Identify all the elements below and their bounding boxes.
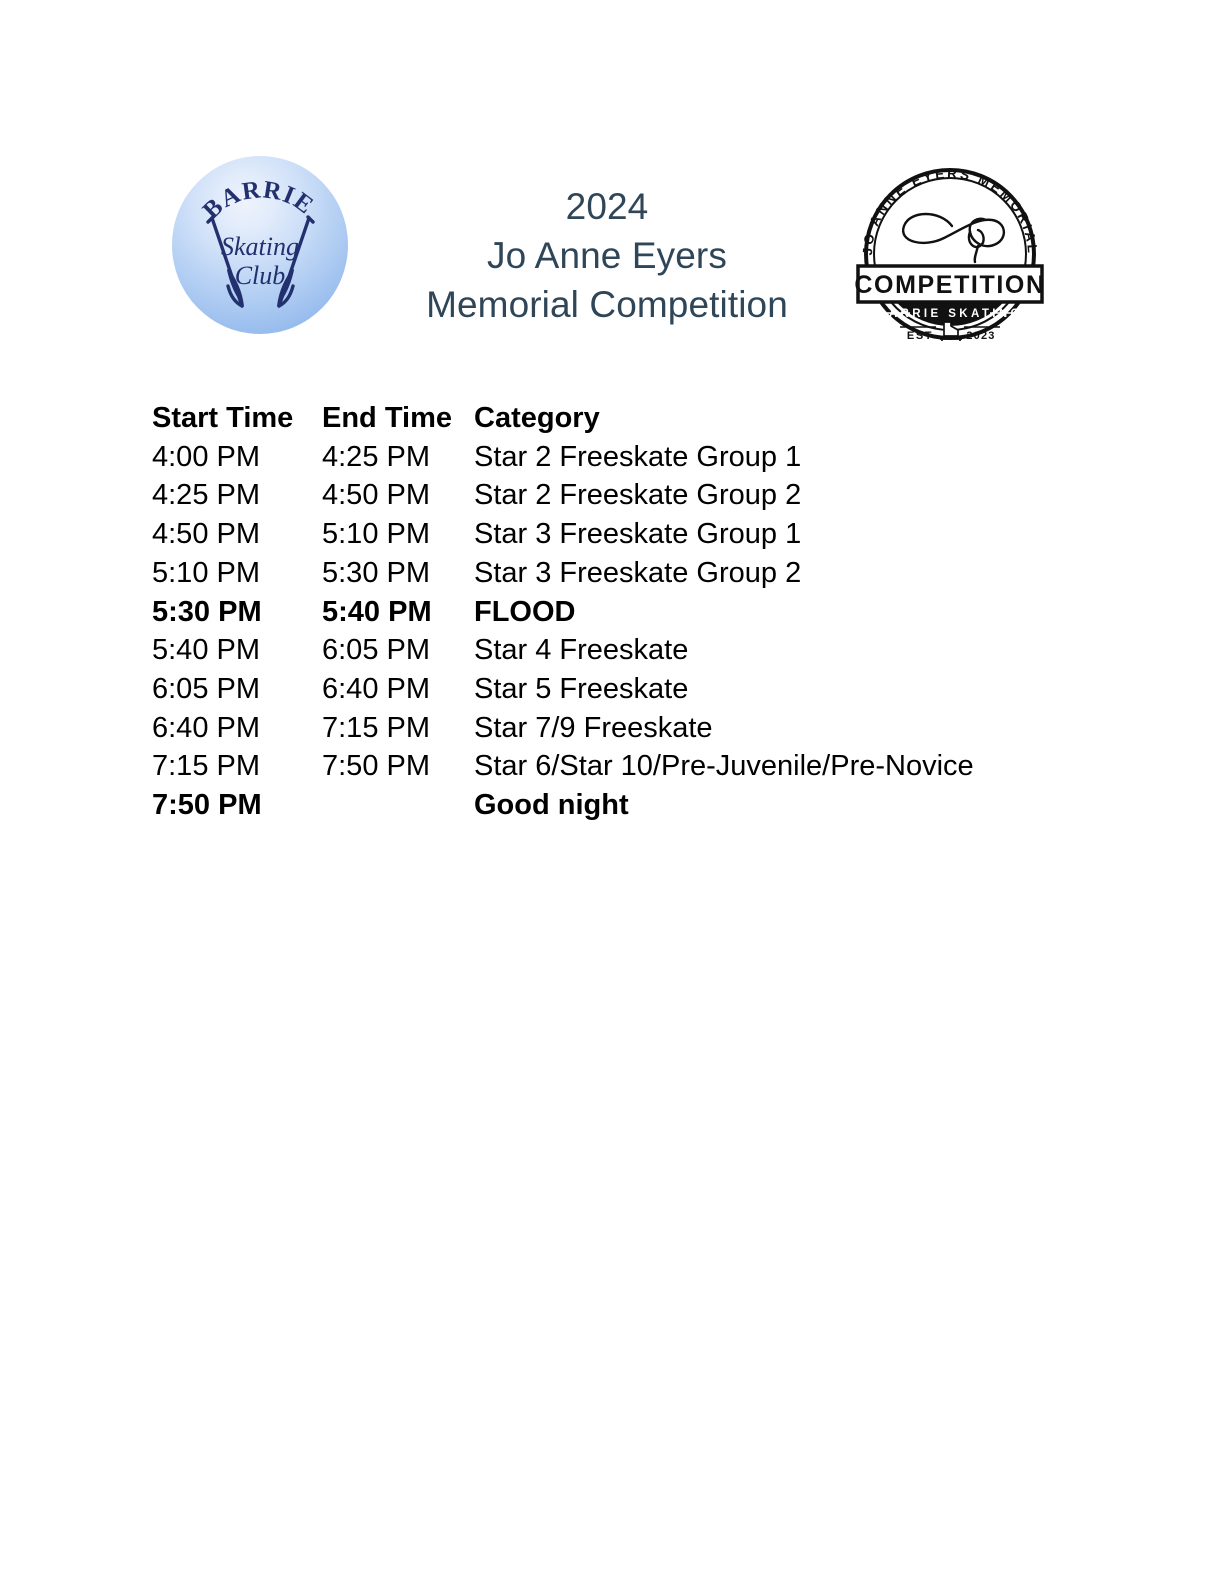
table-row: 5:40 PM 6:05 PM Star 4 Freeskate (152, 631, 1034, 670)
cell-category: Star 4 Freeskate (474, 631, 1034, 670)
cell-category: Star 7/9 Freeskate (474, 709, 1034, 748)
cell-category: FLOOD (474, 593, 1034, 632)
table-row: 6:40 PM 7:15 PM Star 7/9 Freeskate (152, 709, 1034, 748)
cell-start-time: 4:25 PM (152, 476, 322, 515)
svg-text:Club: Club (235, 261, 286, 290)
cell-category: Star 3 Freeskate Group 1 (474, 515, 1034, 554)
cell-end-time: 5:10 PM (322, 515, 474, 554)
page-header: BARRIE Skating Club 2024 Jo Anne Eyers M… (0, 70, 1224, 280)
table-row: 5:10 PM 5:30 PM Star 3 Freeskate Group 2 (152, 554, 1034, 593)
table-row-good-night: 7:50 PM Good night (152, 786, 1034, 825)
cell-start-time: 7:50 PM (152, 786, 322, 825)
svg-text:BARRIE SKATING: BARRIE SKATING (877, 308, 1023, 320)
svg-text:Skating: Skating (221, 232, 299, 261)
cell-category: Star 3 Freeskate Group 2 (474, 554, 1034, 593)
svg-text:BARRIE: BARRIE (198, 176, 319, 224)
cell-end-time: 7:50 PM (322, 747, 474, 786)
cell-end-time: 5:40 PM (322, 593, 474, 632)
jo-anne-eyers-memorial-competition-badge: JO ANNE EYERS MEMORIAL COMPETITION BARRI… (848, 150, 1052, 346)
cell-start-time: 5:30 PM (152, 593, 322, 632)
column-header-category: Category (474, 399, 1034, 438)
barrie-skating-club-logo: BARRIE Skating Club (172, 156, 348, 334)
title-line-event: Memorial Competition (372, 280, 842, 329)
cell-end-time: 6:40 PM (322, 670, 474, 709)
svg-text:2023: 2023 (966, 330, 995, 342)
title-line-name: Jo Anne Eyers (372, 231, 842, 280)
cell-start-time: 7:15 PM (152, 747, 322, 786)
schedule-table: Start Time End Time Category 4:00 PM 4:2… (152, 399, 1034, 825)
table-row: 4:50 PM 5:10 PM Star 3 Freeskate Group 1 (152, 515, 1034, 554)
cell-start-time: 4:00 PM (152, 438, 322, 477)
cell-category: Star 2 Freeskate Group 2 (474, 476, 1034, 515)
cell-end-time: 5:30 PM (322, 554, 474, 593)
cell-end-time: 7:15 PM (322, 709, 474, 748)
schedule-table-body: 4:00 PM 4:25 PM Star 2 Freeskate Group 1… (152, 438, 1034, 825)
table-row-flood: 5:30 PM 5:40 PM FLOOD (152, 593, 1034, 632)
cell-start-time: 6:40 PM (152, 709, 322, 748)
svg-text:COMPETITION: COMPETITION (854, 271, 1045, 299)
svg-text:EST: EST (907, 330, 933, 342)
cell-category: Star 5 Freeskate (474, 670, 1034, 709)
table-header-row: Start Time End Time Category (152, 399, 1034, 438)
cell-end-time: 4:50 PM (322, 476, 474, 515)
cell-end-time: 6:05 PM (322, 631, 474, 670)
svg-text:JO ANNE EYERS MEMORIAL: JO ANNE EYERS MEMORIAL (860, 166, 1040, 256)
column-header-start-time: Start Time (152, 399, 322, 438)
column-header-end-time: End Time (322, 399, 474, 438)
table-row: 7:15 PM 7:50 PM Star 6/Star 10/Pre-Juven… (152, 747, 1034, 786)
cell-category: Good night (474, 786, 1034, 825)
cell-start-time: 5:40 PM (152, 631, 322, 670)
table-row: 4:25 PM 4:50 PM Star 2 Freeskate Group 2 (152, 476, 1034, 515)
page-title: 2024 Jo Anne Eyers Memorial Competition (372, 182, 842, 329)
cell-start-time: 5:10 PM (152, 554, 322, 593)
cell-end-time (322, 786, 474, 825)
cell-category: Star 2 Freeskate Group 1 (474, 438, 1034, 477)
title-line-year: 2024 (372, 182, 842, 231)
cell-start-time: 4:50 PM (152, 515, 322, 554)
cell-end-time: 4:25 PM (322, 438, 474, 477)
cell-category: Star 6/Star 10/Pre-Juvenile/Pre-Novice (474, 747, 1034, 786)
cell-start-time: 6:05 PM (152, 670, 322, 709)
table-row: 4:00 PM 4:25 PM Star 2 Freeskate Group 1 (152, 438, 1034, 477)
table-row: 6:05 PM 6:40 PM Star 5 Freeskate (152, 670, 1034, 709)
